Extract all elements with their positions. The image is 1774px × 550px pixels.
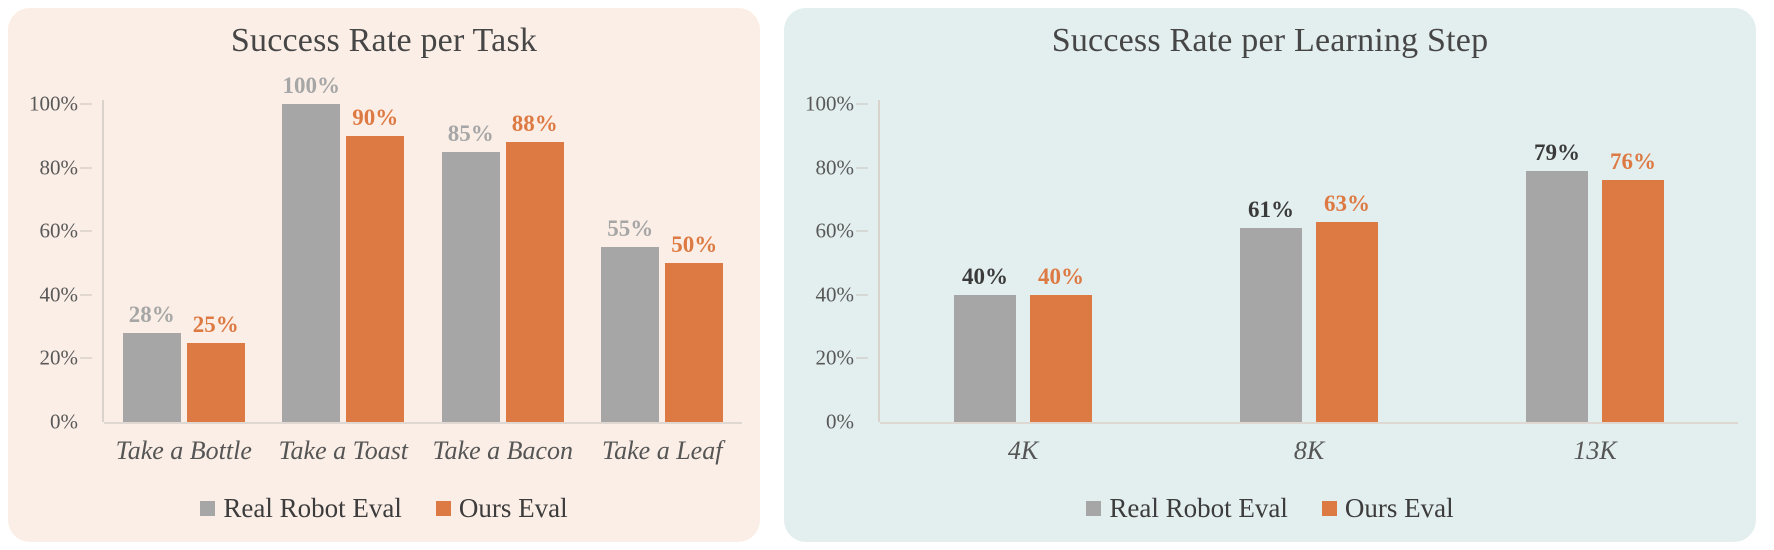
- bar[interactable]: 85%: [442, 152, 500, 422]
- bar-group: 55%50%: [592, 62, 732, 422]
- bar-value-label: 85%: [448, 121, 494, 147]
- bar-value-label: 40%: [1038, 264, 1084, 290]
- bar-value-label: 76%: [1610, 149, 1656, 175]
- y-axis-tick-mark: [80, 358, 92, 359]
- x-axis-category-label: Take a Bottle: [116, 436, 252, 466]
- bar-pair: 79%76%: [1526, 62, 1664, 422]
- x-axis-category-label: Take a Leaf: [602, 436, 722, 466]
- legend-swatch-icon-orange: [436, 501, 451, 516]
- y-axis-left: 0%20%40%60%80%100%: [18, 62, 104, 434]
- x-axis-labels-left: Take a BottleTake a ToastTake a BaconTak…: [18, 434, 742, 480]
- bar-value-label: 55%: [607, 216, 653, 242]
- y-axis-tick-label: 60%: [40, 219, 79, 244]
- bar-pair: 61%63%: [1240, 62, 1378, 422]
- bar[interactable]: 63%: [1316, 222, 1378, 422]
- bar[interactable]: 76%: [1602, 180, 1664, 422]
- bars-left: 28%25%100%90%85%88%55%50%: [104, 62, 742, 434]
- y-axis-tick-mark: [856, 294, 868, 295]
- y-axis-tick-label: 100%: [805, 92, 854, 117]
- bar-pair: 40%40%: [954, 62, 1092, 422]
- bar-value-label: 100%: [283, 73, 341, 99]
- bar[interactable]: 100%: [282, 104, 340, 422]
- bar-value-label: 90%: [352, 105, 398, 131]
- legend-swatch-icon-orange: [1322, 501, 1337, 516]
- x-axis-labels-right: 4K8K13K: [794, 434, 1738, 480]
- chart-panel-success-rate-per-learning-step: Success Rate per Learning Step 0%20%40%6…: [784, 8, 1756, 542]
- bar-value-label: 63%: [1324, 191, 1370, 217]
- bar[interactable]: 61%: [1240, 228, 1302, 422]
- legend-label-real-robot-eval: Real Robot Eval: [1109, 493, 1287, 524]
- y-axis-tick-label: 0%: [50, 410, 78, 435]
- charts-container: Success Rate per Task 0%20%40%60%80%100%…: [0, 0, 1774, 550]
- bar-value-label: 61%: [1248, 197, 1294, 223]
- y-axis-tick-mark: [80, 104, 92, 105]
- bar-group: 61%63%: [1234, 62, 1384, 422]
- bar[interactable]: 40%: [954, 295, 1016, 422]
- bar[interactable]: 88%: [506, 142, 564, 422]
- legend-item-real-robot-eval[interactable]: Real Robot Eval: [200, 493, 401, 524]
- bar-pair: 85%88%: [442, 62, 564, 422]
- bar-value-label: 40%: [962, 264, 1008, 290]
- x-axis-category-label: 8K: [1294, 436, 1324, 466]
- bar[interactable]: 79%: [1526, 171, 1588, 422]
- plot-area-left: 0%20%40%60%80%100% 28%25%100%90%85%88%55…: [18, 62, 742, 434]
- y-axis-tick-mark: [856, 104, 868, 105]
- y-axis-tick-mark: [856, 231, 868, 232]
- legend-swatch-icon-gray: [1086, 501, 1101, 516]
- bar-group: 40%40%: [948, 62, 1098, 422]
- bar-pair: 28%25%: [123, 62, 245, 422]
- bar-pair: 55%50%: [601, 62, 723, 422]
- plot-area-right: 0%20%40%60%80%100% 40%40%61%63%79%76%: [794, 62, 1738, 434]
- y-axis-tick-mark: [80, 167, 92, 168]
- legend-label-ours-eval: Ours Eval: [459, 493, 568, 524]
- x-axis-baseline: [104, 422, 742, 424]
- x-axis-category-label: Take a Bacon: [432, 436, 573, 466]
- legend-label-real-robot-eval: Real Robot Eval: [223, 493, 401, 524]
- bar-group: 85%88%: [433, 62, 573, 422]
- legend-item-ours-eval[interactable]: Ours Eval: [1322, 493, 1454, 524]
- legend-item-real-robot-eval[interactable]: Real Robot Eval: [1086, 493, 1287, 524]
- y-axis-tick-mark: [856, 167, 868, 168]
- legend-right: Real Robot Eval Ours Eval: [784, 480, 1756, 536]
- y-axis-tick-label: 60%: [816, 219, 855, 244]
- y-axis-tick-label: 0%: [826, 410, 854, 435]
- y-axis-tick-mark: [80, 294, 92, 295]
- y-axis-tick-label: 100%: [29, 92, 78, 117]
- y-axis-tick-label: 20%: [40, 346, 79, 371]
- x-axis-category-label: 4K: [1008, 436, 1038, 466]
- legend-left: Real Robot Eval Ours Eval: [8, 480, 760, 536]
- bar[interactable]: 90%: [346, 136, 404, 422]
- y-axis-tick-mark: [856, 358, 868, 359]
- y-axis-tick-label: 40%: [816, 282, 855, 307]
- legend-label-ours-eval: Ours Eval: [1345, 493, 1454, 524]
- y-axis-tick-label: 80%: [40, 155, 79, 180]
- bar[interactable]: 55%: [601, 247, 659, 422]
- bar-value-label: 50%: [671, 232, 717, 258]
- chart-title-left: Success Rate per Task: [8, 22, 760, 60]
- bar-group: 28%25%: [114, 62, 254, 422]
- x-axis-baseline: [880, 422, 1738, 424]
- y-axis-tick-label: 80%: [816, 155, 855, 180]
- bar[interactable]: 28%: [123, 333, 181, 422]
- chart-title-right: Success Rate per Learning Step: [784, 22, 1756, 60]
- chart-panel-success-rate-per-task: Success Rate per Task 0%20%40%60%80%100%…: [8, 8, 760, 542]
- y-axis-tick-mark: [80, 231, 92, 232]
- y-axis-tick-label: 40%: [40, 282, 79, 307]
- y-axis-tick-label: 20%: [816, 346, 855, 371]
- bar-group: 79%76%: [1520, 62, 1670, 422]
- x-axis-category-label: Take a Toast: [278, 436, 408, 466]
- bar-value-label: 88%: [512, 111, 558, 137]
- bar[interactable]: 50%: [665, 263, 723, 422]
- bars-right: 40%40%61%63%79%76%: [880, 62, 1738, 434]
- bar-group: 100%90%: [273, 62, 413, 422]
- bar-value-label: 25%: [193, 312, 239, 338]
- y-axis-right: 0%20%40%60%80%100%: [794, 62, 880, 434]
- bar-pair: 100%90%: [282, 62, 404, 422]
- legend-swatch-icon-gray: [200, 501, 215, 516]
- x-axis-category-label: 13K: [1573, 436, 1616, 466]
- bar[interactable]: 40%: [1030, 295, 1092, 422]
- bar-value-label: 28%: [129, 302, 175, 328]
- bar-value-label: 79%: [1534, 140, 1580, 166]
- legend-item-ours-eval[interactable]: Ours Eval: [436, 493, 568, 524]
- bar[interactable]: 25%: [187, 343, 245, 423]
